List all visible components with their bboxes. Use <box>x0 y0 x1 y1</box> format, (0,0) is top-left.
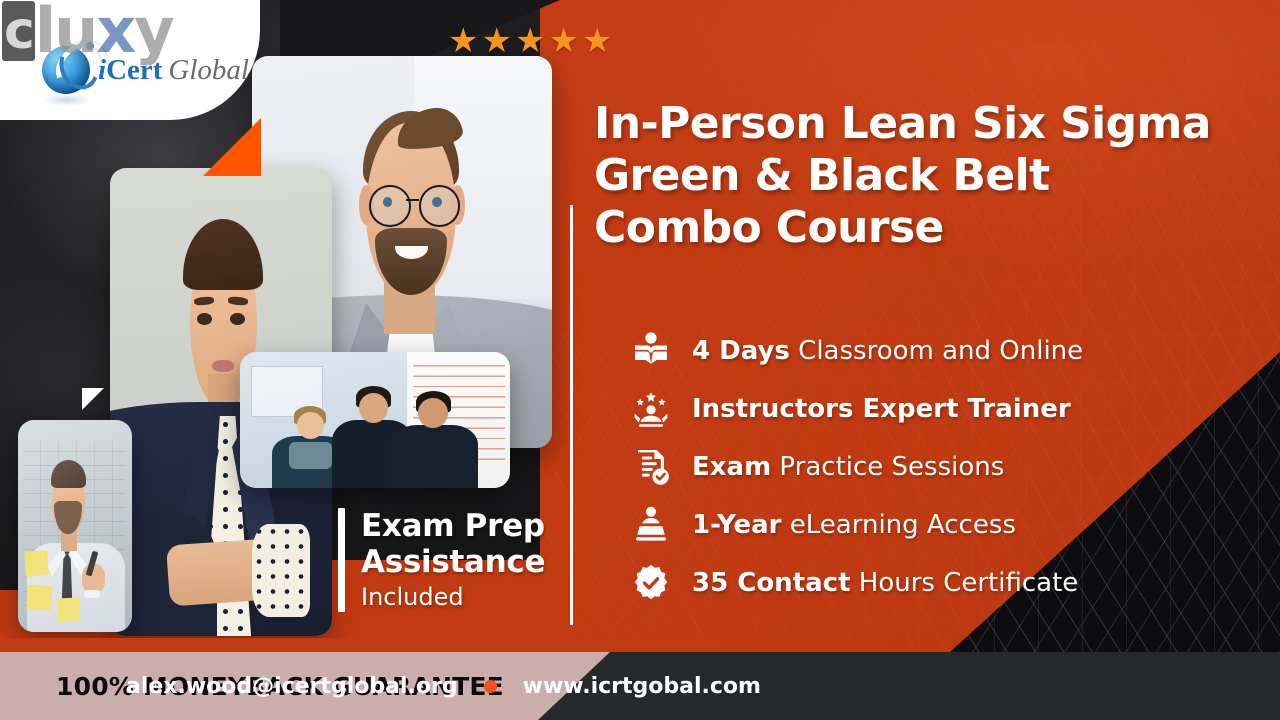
feature-bold-text: Instructors Expert Trainer <box>692 394 1071 424</box>
star-icon: ★ <box>582 24 612 58</box>
exam-prep-line-1: Exam Prep <box>361 508 545 544</box>
logo-wordmark: iCertGlobal <box>98 54 249 87</box>
swoosh-dot-icon <box>86 42 94 50</box>
exam-prep-line-2: Assistance <box>361 544 545 580</box>
title-line-3: Combo Course <box>594 202 1274 254</box>
star-icon: ★ <box>515 24 545 58</box>
feature-label: 35 Contact Hours Certificate <box>692 568 1078 598</box>
feature-label: 1-Year eLearning Access <box>692 510 1016 540</box>
course-title: In-Person Lean Six Sigma Green & Black B… <box>594 98 1274 254</box>
star-icon: ★ <box>448 24 478 58</box>
feature-bold-text: 35 Contact <box>692 568 851 598</box>
logo-text-global: Global <box>168 54 249 86</box>
feature-item-contact-hours: 35 Contact Hours Certificate <box>628 554 1268 612</box>
contact-panel-content: alex.wood@icertglobal.org www.icrtgobal.… <box>0 652 1280 720</box>
contact-website[interactable]: www.icrtgobal.com <box>523 674 761 699</box>
feature-regular-text: Classroom and Online <box>790 336 1083 366</box>
exam-prep-line-3: Included <box>361 582 545 612</box>
logo-text-cert: Cert <box>106 54 162 86</box>
feature-regular-text: eLearning Access <box>782 510 1016 540</box>
team-training-photo <box>240 352 510 488</box>
course-promo-banner: iCertGlobal cluxy ★ ★ ★ ★ ★ In-Person Le… <box>0 0 1280 720</box>
feature-regular-text: Hours Certificate <box>851 568 1079 598</box>
exam-document-check-icon <box>628 444 674 490</box>
contact-email[interactable]: alex.wood@icertglobal.org <box>126 674 458 699</box>
feature-bold-text: Exam <box>692 452 771 482</box>
star-icon: ★ <box>548 24 578 58</box>
feature-label: Instructors Expert Trainer <box>692 394 1071 424</box>
feature-item-exam: Exam Practice Sessions <box>628 438 1268 496</box>
certificate-badge-check-icon <box>628 560 674 606</box>
bullet-dot-icon <box>484 680 497 693</box>
feature-item-elearning: 1-Year eLearning Access <box>628 496 1268 554</box>
feature-regular-text: Practice Sessions <box>771 452 1004 482</box>
white-triangle-accent <box>82 388 104 410</box>
star-rating: ★ ★ ★ ★ ★ <box>448 24 612 58</box>
feature-bold-text: 1-Year <box>692 510 782 540</box>
title-line-1: In-Person Lean Six Sigma <box>594 98 1274 150</box>
feature-list: 4 Days Classroom and Online Instructors … <box>628 322 1268 612</box>
star-icon: ★ <box>481 24 511 58</box>
podium-lectern-icon <box>628 502 674 548</box>
book-reader-icon <box>628 328 674 374</box>
feature-label: 4 Days Classroom and Online <box>692 336 1083 366</box>
vertical-divider <box>570 205 573 625</box>
title-line-2: Green & Black Belt <box>594 150 1274 202</box>
exam-prep-callout: Exam Prep Assistance Included <box>338 508 545 612</box>
expert-trainer-star-icon <box>628 386 674 432</box>
footer-bar: 100% MONEYBACK GUARANTEE alex.wood@icert… <box>0 652 1280 720</box>
orange-triangle-accent <box>203 118 261 176</box>
footer-orange-strip <box>0 638 720 652</box>
accent-bar <box>338 508 345 612</box>
feature-bold-text: 4 Days <box>692 336 790 366</box>
feature-label: Exam Practice Sessions <box>692 452 1004 482</box>
feature-item-duration: 4 Days Classroom and Online <box>628 322 1268 380</box>
logo-text-i: i <box>98 54 106 86</box>
man-presenting-board-photo <box>18 420 132 632</box>
feature-item-instructors: Instructors Expert Trainer <box>628 380 1268 438</box>
